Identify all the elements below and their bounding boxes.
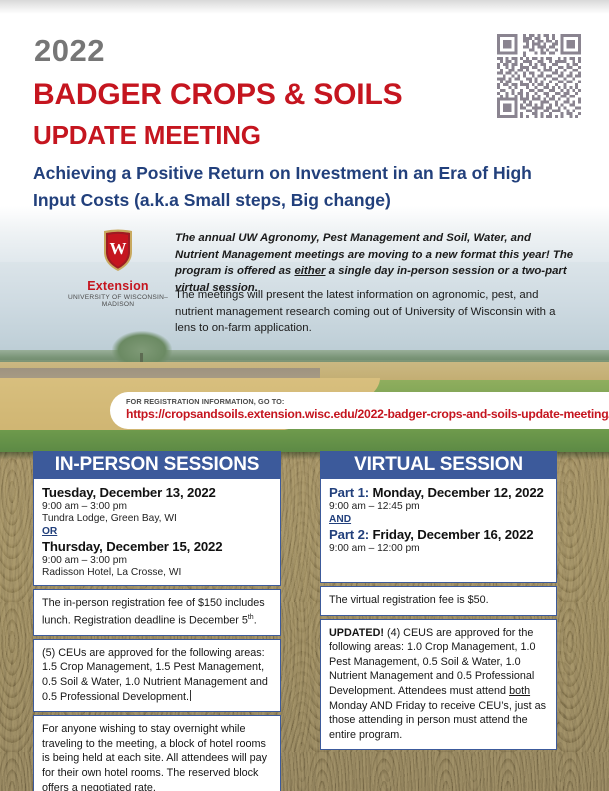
virtual-heading: VIRTUAL SESSION: [320, 451, 557, 479]
registration-band[interactable]: FOR REGISTRATION INFORMATION, GO TO: htt…: [110, 392, 609, 429]
uw-extension-logo: W Extension UNIVERSITY OF WISCONSIN–MADI…: [63, 228, 173, 300]
in-person-hotel-text: For anyone wishing to stay overnight whi…: [42, 722, 272, 791]
page-title-line1: BADGER CROPS & SOILS: [33, 78, 402, 112]
virtual-part2-label: Part 2:: [329, 527, 369, 542]
in-person-hotel-box: For anyone wishing to stay overnight whi…: [33, 715, 281, 791]
virtual-ceus-text: UPDATED! (4) CEUS are approved for the f…: [329, 626, 548, 743]
virtual-part1-date: Monday, December 12, 2022: [369, 485, 544, 500]
in-person-ceus-box: (5) CEUs are approved for the following …: [33, 639, 281, 712]
qr-code-icon[interactable]: [497, 34, 581, 118]
intro-paragraph-2: The meetings will present the latest inf…: [175, 287, 565, 337]
uw-badger-crest-icon: W: [100, 228, 136, 272]
virtual-part1-title: Part 1: Monday, December 12, 2022: [329, 485, 548, 500]
session1-title: Tuesday, December 13, 2022: [42, 485, 272, 500]
in-person-fee-box: The in-person registration fee of $150 i…: [33, 589, 281, 636]
in-person-fee-b: .: [254, 614, 257, 626]
poster-canvas: 2022 BADGER CROPS & SOILS UPDATE MEETING…: [0, 0, 609, 791]
virtual-connector-and: AND: [329, 514, 548, 525]
in-person-connector-or: OR: [42, 526, 272, 537]
in-person-heading: IN-PERSON SESSIONS: [33, 451, 281, 479]
in-person-fee-a: The in-person registration fee of $150 i…: [42, 597, 265, 626]
in-person-column: IN-PERSON SESSIONS Tuesday, December 13,…: [33, 451, 281, 791]
virtual-fee-text: The virtual registration fee is $50.: [329, 593, 548, 608]
virtual-part2-time: 9:00 am – 12:00 pm: [329, 543, 548, 554]
virtual-ceus-b: Monday AND Friday to receive CEU’s, just…: [329, 700, 546, 741]
in-person-ceus-text: (5) CEUs are approved for the following …: [42, 646, 272, 704]
text-cursor: [190, 690, 191, 701]
in-person-sessions-box: Tuesday, December 13, 2022 9:00 am – 3:0…: [33, 479, 281, 586]
session2-title: Thursday, December 15, 2022: [42, 539, 272, 554]
virtual-ceus-box: UPDATED! (4) CEUS are approved for the f…: [320, 619, 557, 751]
page-title-line2: UPDATE MEETING: [33, 120, 261, 151]
page-year: 2022: [34, 33, 105, 69]
in-person-ceus-value: (5) CEUs are approved for the following …: [42, 647, 268, 703]
registration-label: FOR REGISTRATION INFORMATION, GO TO:: [126, 397, 284, 406]
logo-extension-text: Extension: [63, 279, 173, 293]
virtual-part2-title: Part 2: Friday, December 16, 2022: [329, 527, 548, 542]
session1-time: 9:00 am – 3:00 pm: [42, 501, 272, 512]
virtual-updated-badge: UPDATED!: [329, 627, 384, 639]
session2-time: 9:00 am – 3:00 pm: [42, 555, 272, 566]
virtual-part1-time: 9:00 am – 12:45 pm: [329, 501, 548, 512]
virtual-ceus-both: both: [509, 685, 530, 697]
page-subtitle: Achieving a Positive Return on Investmen…: [33, 160, 533, 214]
virtual-part1-label: Part 1:: [329, 485, 369, 500]
intro-p1-either: either: [294, 265, 325, 277]
background-top-strip: [0, 0, 609, 14]
virtual-part2-date: Friday, December 16, 2022: [369, 527, 533, 542]
logo-university-text: UNIVERSITY OF WISCONSIN–MADISON: [63, 294, 173, 308]
in-person-fee-text: The in-person registration fee of $150 i…: [42, 596, 272, 628]
registration-url-link[interactable]: https://cropsandsoils.extension.wisc.edu…: [126, 407, 609, 421]
svg-text:W: W: [110, 239, 127, 258]
background-tree: [112, 331, 172, 363]
virtual-column: VIRTUAL SESSION Part 1: Monday, December…: [320, 451, 557, 750]
virtual-sessions-box: Part 1: Monday, December 12, 2022 9:00 a…: [320, 479, 557, 583]
virtual-fee-box: The virtual registration fee is $50.: [320, 586, 557, 616]
session2-location: Radisson Hotel, La Crosse, WI: [42, 567, 272, 578]
session1-location: Tundra Lodge, Green Bay, WI: [42, 513, 272, 524]
